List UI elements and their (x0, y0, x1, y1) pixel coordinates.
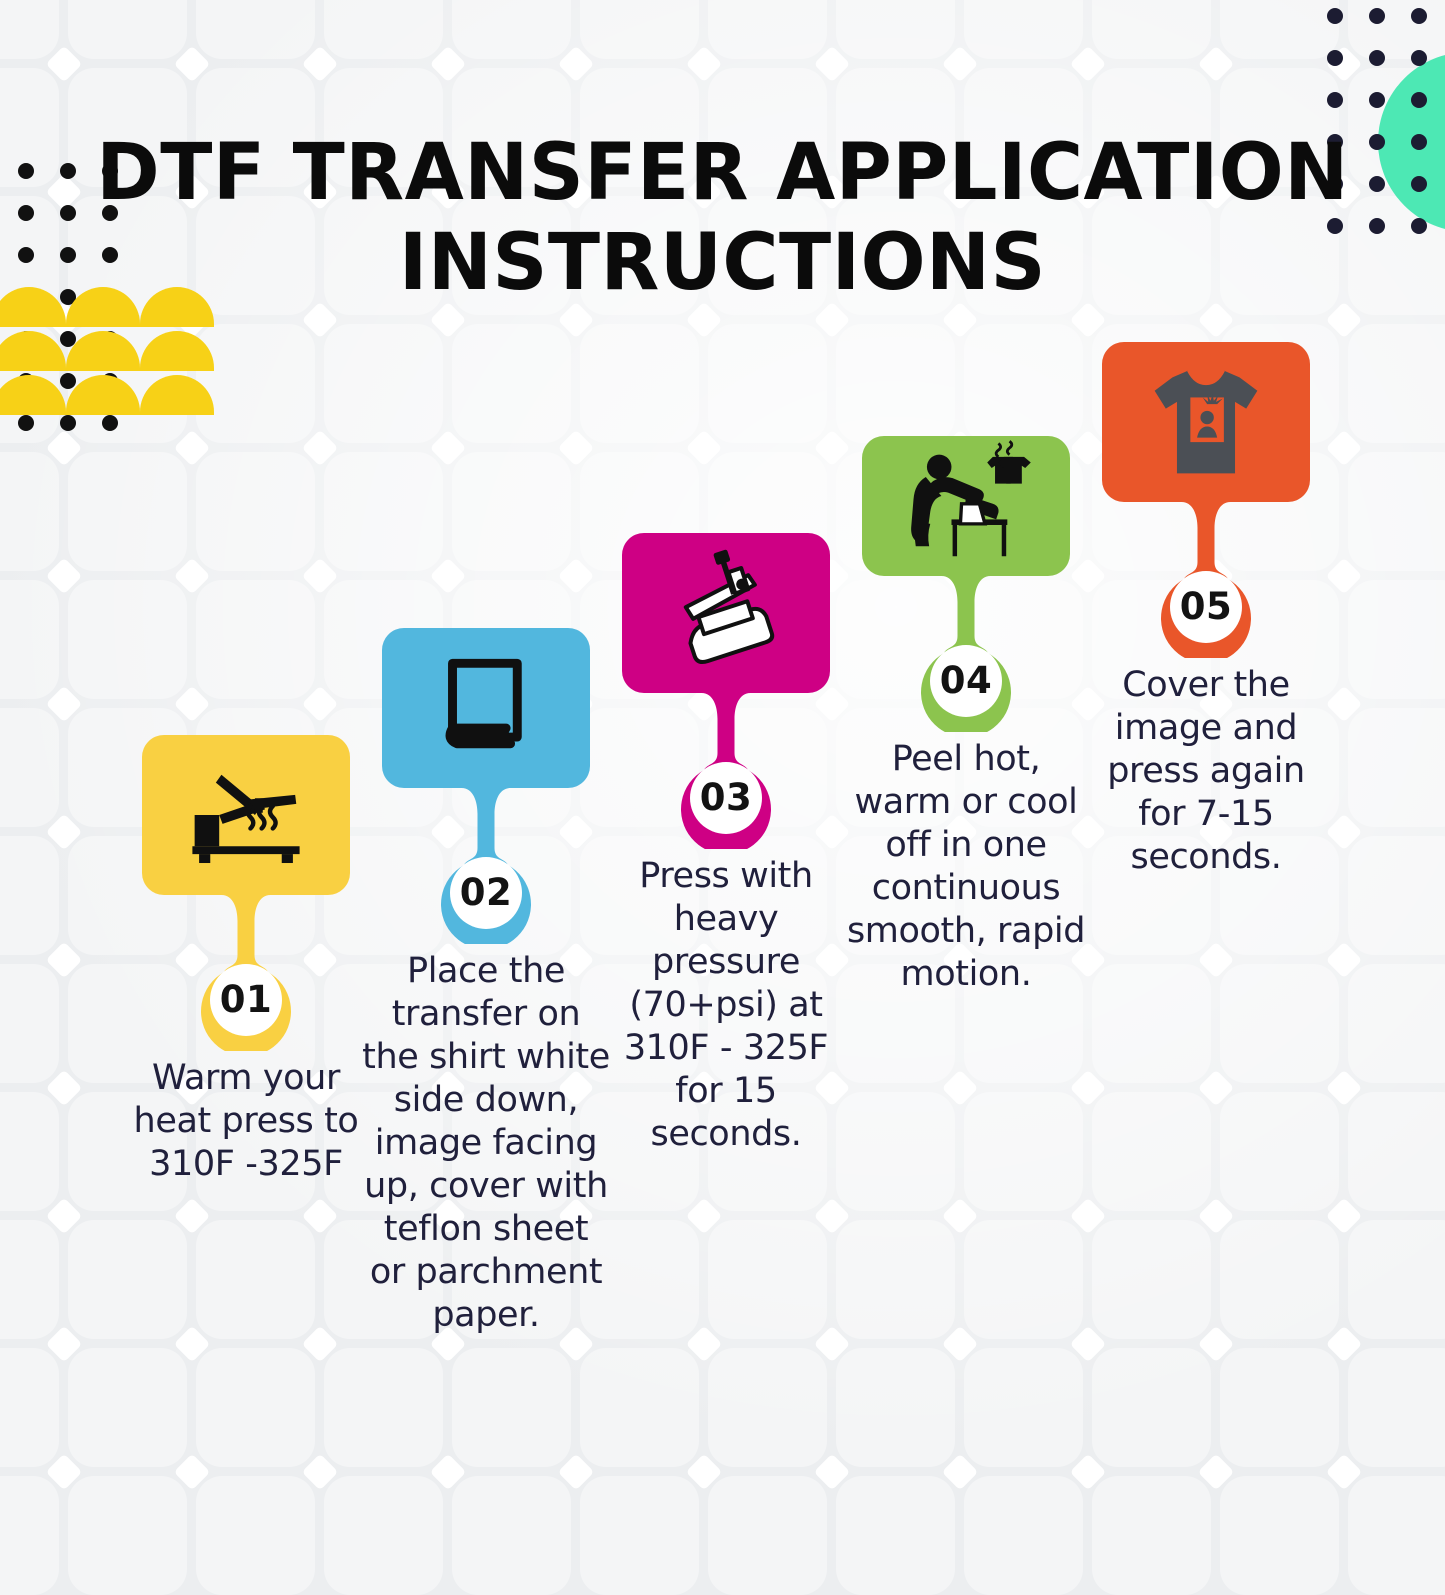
background-tile (836, 1476, 955, 1595)
background-tile (1220, 1476, 1339, 1595)
step-04-number: 04 (842, 659, 1090, 702)
background-tile (0, 1476, 59, 1595)
step-04: 04 Peel hot, warm or cool off in one con… (842, 436, 1090, 996)
step-04-caption: Peel hot, warm or cool off in one contin… (842, 738, 1090, 996)
step-05-icon-wrapper (1082, 355, 1330, 489)
peeling-worker-icon (899, 439, 1033, 573)
printed-tshirt-icon (1139, 355, 1273, 489)
transfer-sheet-icon (419, 641, 553, 775)
page-title: DTF TRANSFER APPLICATION INSTRUCTIONS (0, 128, 1445, 309)
step-01-number: 01 (122, 978, 370, 1021)
background-tile (68, 1476, 187, 1595)
step-02-number: 02 (362, 871, 610, 914)
heat-press-machine-icon (659, 546, 793, 680)
step-01-caption: Warm your heat press to 310F -325F (122, 1057, 370, 1186)
step-04-icon-wrapper (842, 439, 1090, 573)
step-05: 05 Cover the image and press again for 7… (1082, 342, 1330, 879)
background-tile (964, 1476, 1083, 1595)
step-03-caption: Press with heavy pressure (70+psi) at 31… (602, 855, 850, 1156)
step-01-pin: 01 (122, 735, 370, 1051)
page-title-line-1: DTF TRANSFER APPLICATION (14, 128, 1430, 218)
heat-press-icon (179, 748, 313, 882)
step-05-pin: 05 (1082, 342, 1330, 658)
step-03-number: 03 (602, 776, 850, 819)
step-04-pin: 04 (842, 436, 1090, 732)
background-tile (324, 1476, 443, 1595)
page-title-line-2: INSTRUCTIONS (14, 218, 1430, 308)
step-02-icon-wrapper (362, 641, 610, 775)
background-tile (452, 1476, 571, 1595)
step-01-icon-wrapper (122, 748, 370, 882)
step-03: 03 Press with heavy pressure (70+psi) at… (602, 533, 850, 1156)
step-02: 02 Place the transfer on the shirt white… (362, 628, 610, 1337)
step-05-caption: Cover the image and press again for 7-15… (1082, 664, 1330, 879)
background-tile (196, 1476, 315, 1595)
background-tile (580, 1476, 699, 1595)
step-03-pin: 03 (602, 533, 850, 849)
step-03-icon-wrapper (602, 546, 850, 680)
step-02-caption: Place the transfer on the shirt white si… (362, 950, 610, 1337)
step-01: 01 Warm your heat press to 310F -325F (122, 735, 370, 1186)
background-tile (1092, 1476, 1211, 1595)
step-05-number: 05 (1082, 585, 1330, 628)
background-tile (708, 1476, 827, 1595)
step-02-pin: 02 (362, 628, 610, 944)
background-tile (1348, 1476, 1445, 1595)
